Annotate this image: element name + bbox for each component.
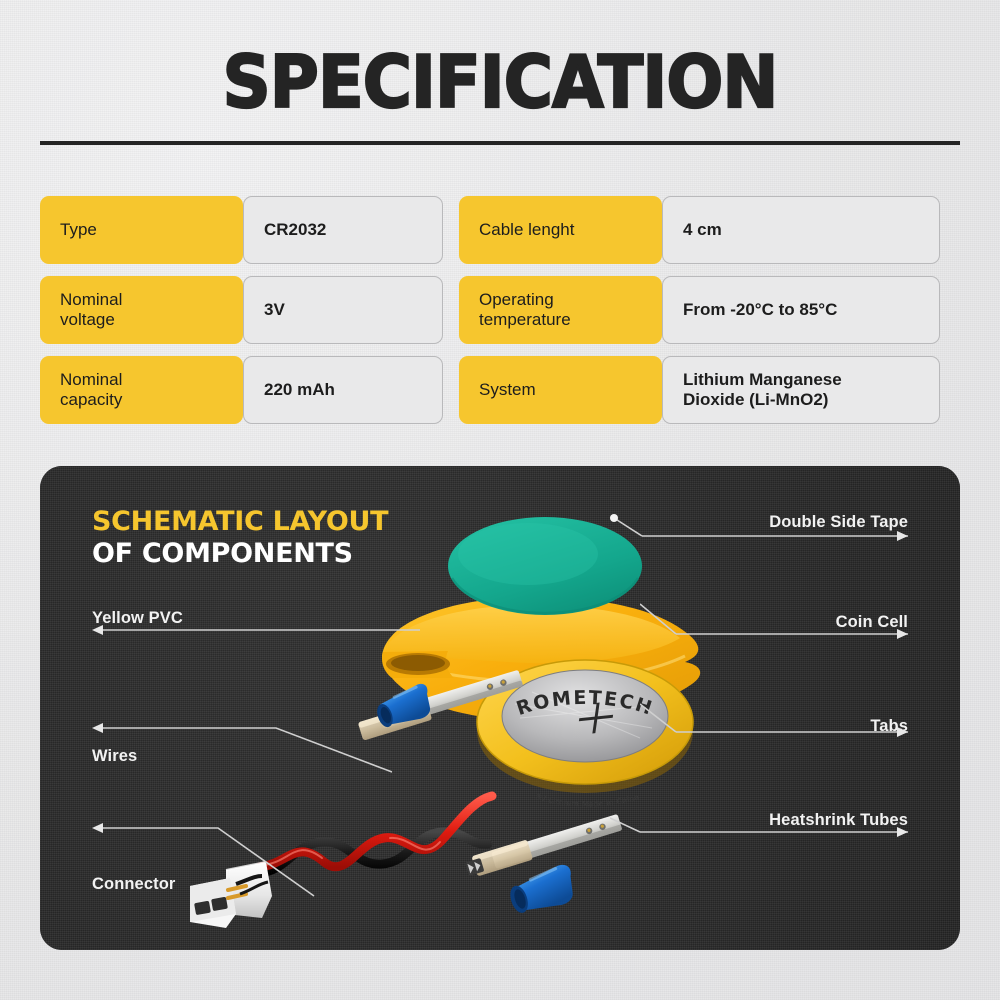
spec-key-system: System xyxy=(459,356,662,424)
spec-key-cable-length: Cable lenght xyxy=(459,196,662,264)
spec-value-nominal-capacity: 220 mAh xyxy=(243,356,443,424)
spec-column-gap xyxy=(443,196,459,264)
spec-value-cable-length: 4 cm xyxy=(662,196,940,264)
spec-key-operating-temperature: Operating temperature xyxy=(459,276,662,344)
spec-key-type: Type xyxy=(40,196,243,264)
title-divider xyxy=(40,141,960,145)
callout-yellow-pvc: Yellow PVC xyxy=(92,598,420,638)
callout-wires: Wires xyxy=(92,696,392,776)
spec-column-gap xyxy=(443,356,459,424)
spec-key-nominal-voltage: Nominal voltage xyxy=(40,276,243,344)
heatshrink-boot-lower xyxy=(505,862,579,919)
spec-value-system: Lithium Manganese Dioxide (Li-MnO2) xyxy=(662,356,940,424)
callout-double-side-tape: Double Side Tape xyxy=(610,500,908,542)
callout-heatshrink-tubes: Heatshrink Tubes xyxy=(610,796,908,840)
page-title: SPECIFICATION xyxy=(35,46,965,118)
spec-value-nominal-voltage: 3V xyxy=(243,276,443,344)
spec-value-type: CR2032 xyxy=(243,196,443,264)
spec-column-gap xyxy=(443,276,459,344)
callout-tabs: Tabs xyxy=(640,696,908,746)
schematic-layout-panel: SCHEMATIC LAYOUT OF COMPONENTS xyxy=(40,466,960,950)
callout-coin-cell: Coin Cell xyxy=(640,598,908,642)
specification-table: Type CR2032 Cable lenght 4 cm Nominal vo… xyxy=(40,196,960,424)
spec-value-operating-temperature: From -20°C to 85°C xyxy=(662,276,940,344)
spec-key-nominal-capacity: Nominal capacity xyxy=(40,356,243,424)
callout-connector: Connector xyxy=(92,796,352,904)
